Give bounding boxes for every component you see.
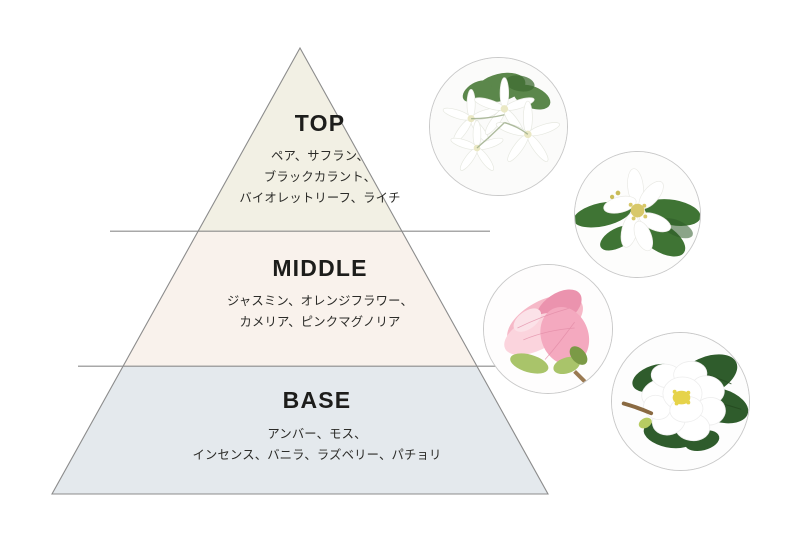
band-base — [40, 366, 560, 498]
orange-flower-photo — [574, 151, 701, 278]
jasmine-flower-photo — [429, 57, 568, 196]
band-middle — [40, 232, 560, 366]
fragrance-pyramid-figure: TOP ペア、サフラン、 ブラックカラント、 バイオレットリーフ、ライチ MID… — [0, 0, 800, 536]
camellia-flower-photo — [611, 332, 750, 471]
pink-magnolia-photo — [483, 264, 613, 394]
